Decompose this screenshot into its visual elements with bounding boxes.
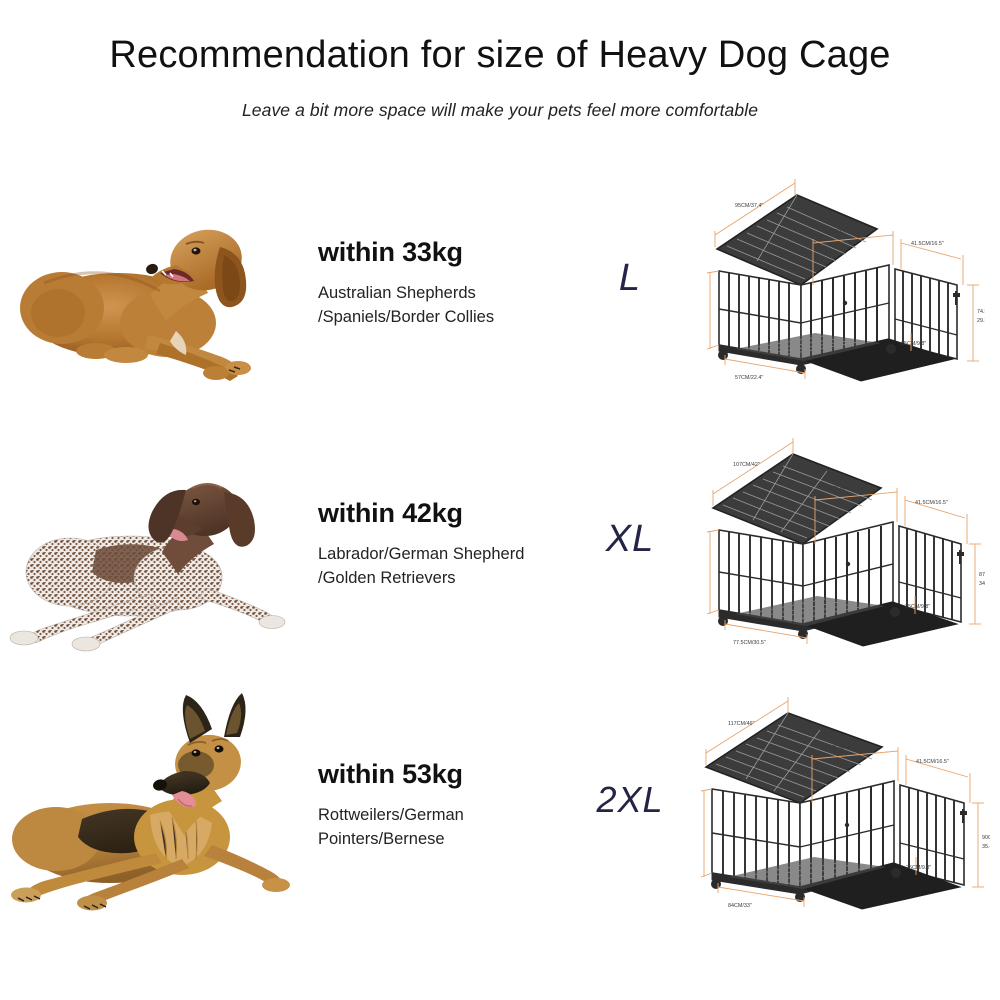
dog-photo-german-shepherd (0, 687, 300, 917)
breeds-line-2-2xl: Pointers/Bernese (318, 828, 570, 852)
dog-photo-cell-l (0, 165, 300, 395)
dog-photo-cell-xl (0, 426, 300, 656)
weight-label-2xl: within 53kg (318, 759, 570, 790)
dog-photo-cell-2xl (0, 687, 300, 917)
dim-lid-width: 107CM/42" (733, 462, 760, 468)
dim-base-width: 57CM/22.4" (735, 375, 763, 381)
size-letter-xl: XL (570, 518, 690, 565)
page-header: Recommendation for size of Heavy Dog Cag… (0, 0, 1000, 121)
size-letter-2xl: 2XL (570, 779, 690, 825)
breeds-line-1-xl: Labrador/German Shepherd (318, 543, 570, 567)
dim-door-height-1: 90CM/ (982, 835, 990, 841)
text-cell-l: within 33kg Australian Shepherds /Spanie… (300, 231, 570, 330)
dim-door-height-2: 35.4" (982, 844, 990, 850)
recommendation-rows: within 33kg Australian Shepherds /Spanie… (0, 153, 1000, 930)
recommendation-row-2xl: within 53kg Rottweilers/German Pointers/… (0, 675, 1000, 930)
dim-body-depth: 95CM/37.4" (823, 229, 851, 235)
recommendation-row-l: within 33kg Australian Shepherds /Spanie… (0, 153, 1000, 408)
size-letter-l: L (570, 257, 690, 304)
breeds-line-1-l: Australian Shepherds (318, 282, 570, 306)
dim-body-depth: 107CM/42" (827, 486, 854, 492)
cage-diagram-2xl: 117CM/46" 117CM/46" 41.5CM/16.5" 96.5CM/… (690, 687, 1000, 917)
dim-door-height-1: 87.5CM/ (979, 572, 985, 578)
page-subtitle: Leave a bit more space will make your pe… (0, 100, 1000, 121)
breeds-line-2-xl: /Golden Retrievers (318, 567, 570, 591)
dim-base-width: 77.5CM/30.5" (733, 640, 766, 646)
dim-door-height-2: 29.3" (977, 318, 985, 324)
text-cell-2xl: within 53kg Rottweilers/German Pointers/… (300, 753, 570, 852)
dim-door-height-1: 74.5CM/ (977, 309, 985, 315)
dog-photo-brown-hound (0, 165, 300, 395)
dim-body-depth: 117CM/46" (826, 745, 852, 751)
cage-diagram-xl: 107CM/42" 107CM/42" 41.5CM/16.5" 94CM/ 3… (690, 426, 1000, 656)
cage-diagram-l: 95CM/37.4" 95CM/37.4" 41.5CM/16.5" 81CM/… (690, 165, 1000, 395)
weight-label-l: within 33kg (318, 237, 570, 268)
recommendation-row-xl: within 42kg Labrador/German Shepherd /Go… (0, 414, 1000, 669)
dim-tray-height: 25CM/9.8" (901, 341, 926, 347)
dim-tray-height: 25CM/9.8" (905, 604, 930, 610)
dim-door-height-2: 34.4" (979, 581, 985, 587)
dog-photo-german-shorthaired-pointer (0, 426, 300, 656)
weight-label-xl: within 42kg (318, 498, 570, 529)
dim-door-width: 41.5CM/16.5" (915, 500, 948, 506)
page-title: Recommendation for size of Heavy Dog Cag… (0, 34, 1000, 78)
dim-base-width: 84CM/33" (728, 903, 752, 909)
dim-lid-width: 117CM/46" (728, 721, 754, 727)
dim-door-width: 41.5CM/16.5" (911, 241, 944, 247)
text-cell-xl: within 42kg Labrador/German Shepherd /Go… (300, 492, 570, 591)
dim-door-width: 41.5CM/16.5" (916, 759, 949, 765)
dim-lid-width: 95CM/37.4" (735, 203, 763, 209)
breeds-line-1-2xl: Rottweilers/German (318, 804, 570, 828)
dim-tray-height: 25CM/9.8" (906, 865, 931, 871)
breeds-line-2-l: /Spaniels/Border Collies (318, 306, 570, 330)
